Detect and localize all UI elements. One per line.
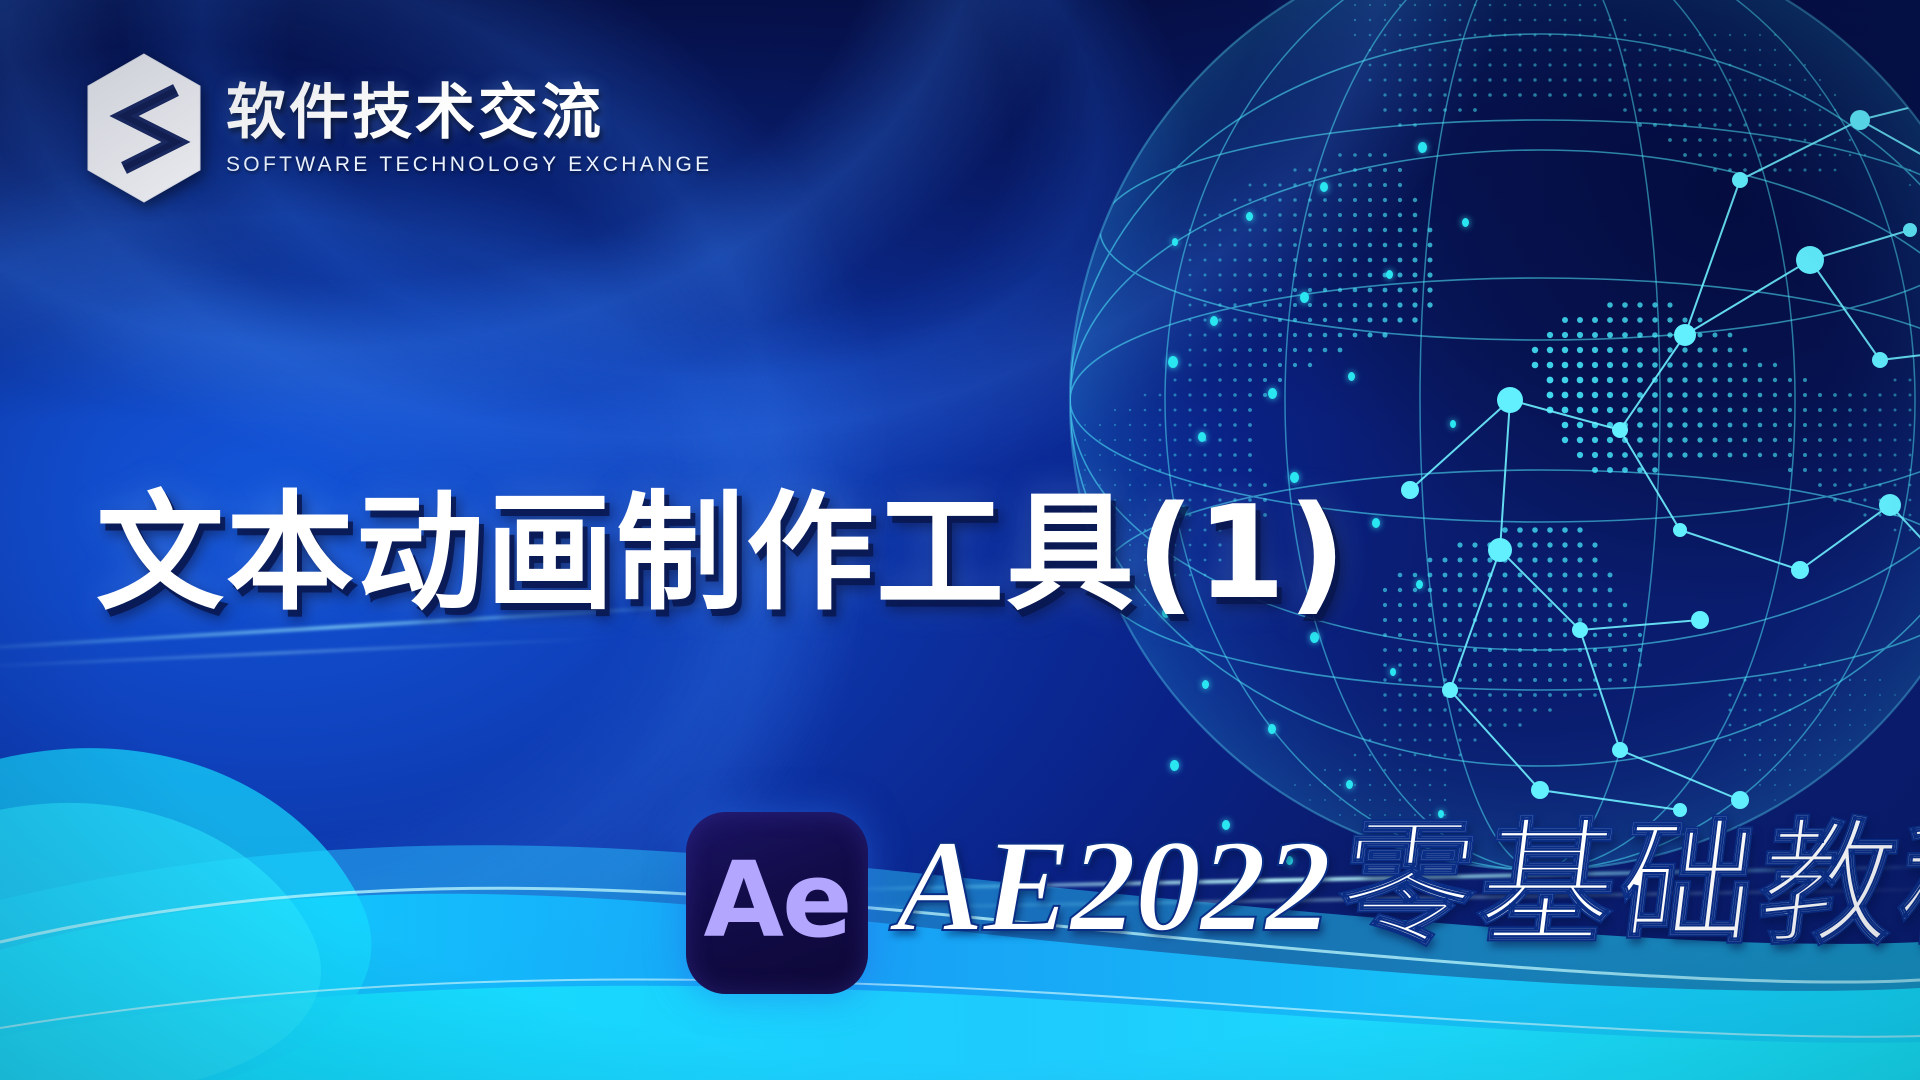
- floating-dot: [1418, 142, 1427, 153]
- floating-dot: [1246, 212, 1253, 221]
- brand-text: 软件技术交流 SOFTWARE TECHNOLOGY EXCHANGE: [226, 79, 712, 177]
- floating-dot: [1198, 432, 1206, 442]
- brand-logo[interactable]: 软件技术交流 SOFTWARE TECHNOLOGY EXCHANGE: [84, 52, 712, 204]
- floating-dot: [1310, 632, 1319, 643]
- brand-name-cn: 软件技术交流: [226, 83, 712, 143]
- floating-dot: [1300, 292, 1309, 303]
- after-effects-icon: Ae: [686, 812, 868, 994]
- floating-dot: [1348, 372, 1355, 381]
- thumbnail-canvas: 软件技术交流 SOFTWARE TECHNOLOGY EXCHANGE 文本动画…: [0, 0, 1920, 1080]
- floating-dot: [1268, 388, 1277, 399]
- floating-dot: [1462, 218, 1469, 227]
- course-title-latin: AE2022: [896, 820, 1330, 952]
- floating-dot: [1168, 356, 1178, 368]
- floating-dot: [1416, 580, 1423, 589]
- course-title-cn: 零基础教程: [1332, 816, 1920, 952]
- floating-dot: [1386, 270, 1393, 279]
- brand-name-en: SOFTWARE TECHNOLOGY EXCHANGE: [226, 153, 712, 177]
- hexagon-s-logo-icon: [84, 52, 204, 204]
- floating-dot: [1320, 182, 1328, 192]
- page-title: 文本动画制作工具(1): [96, 486, 1348, 622]
- floating-dot: [1372, 518, 1380, 528]
- course-title: AE2022 零基础教程: [896, 816, 1920, 952]
- floating-dot: [1210, 316, 1218, 326]
- floating-dot: [1172, 238, 1178, 246]
- floating-dot: [1450, 420, 1456, 428]
- after-effects-label: Ae: [703, 848, 850, 952]
